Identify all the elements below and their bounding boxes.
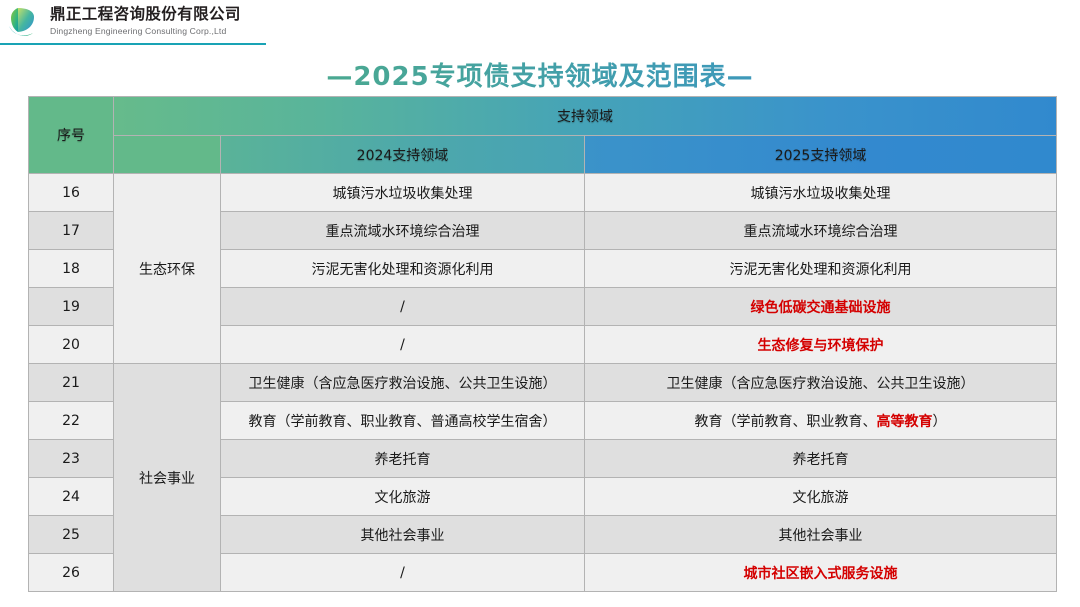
cell-2024-field: 卫生健康（含应急医疗救治设施、公共卫生设施） <box>221 364 584 401</box>
brand-text-block: 鼎正工程咨询股份有限公司 Dingzheng Engineering Consu… <box>50 7 241 35</box>
cell-2025-field: 污泥无害化处理和资源化利用 <box>585 250 1056 287</box>
cell-seq: 19 <box>29 288 113 325</box>
header-row-top: 序号 支持领域 <box>29 97 1056 135</box>
table-row: 21社会事业卫生健康（含应急医疗救治设施、公共卫生设施）卫生健康（含应急医疗救治… <box>29 364 1056 401</box>
cell-seq: 22 <box>29 402 113 439</box>
page-title: —2025专项债支持领域及范围表— <box>0 56 1080 93</box>
cell-2025-field: 生态修复与环境保护 <box>585 326 1056 363</box>
field-text-plain: 卫生健康（含应急医疗救治设施、公共卫生设施） <box>667 376 975 392</box>
cell-2025-field: 卫生健康（含应急医疗救治设施、公共卫生设施） <box>585 364 1056 401</box>
cell-seq: 24 <box>29 478 113 515</box>
field-text-plain: 养老托育 <box>793 452 849 468</box>
company-name-cn: 鼎正工程咨询股份有限公司 <box>50 7 241 23</box>
cell-seq: 26 <box>29 554 113 591</box>
table-body: 16生态环保城镇污水垃圾收集处理城镇污水垃圾收集处理17重点流域水环境综合治理重… <box>29 174 1056 591</box>
field-text-highlight: 绿色低碳交通基础设施 <box>751 300 891 316</box>
cell-2024-field: 教育（学前教育、职业教育、普通高校学生宿舍） <box>221 402 584 439</box>
cell-seq: 25 <box>29 516 113 553</box>
field-text-plain: 教育（学前教育、职业教育、 <box>695 414 877 430</box>
cell-2024-field: 城镇污水垃圾收集处理 <box>221 174 584 211</box>
cell-seq: 21 <box>29 364 113 401</box>
field-text-plain: 文化旅游 <box>793 490 849 506</box>
header-col-2025: 2025支持领域 <box>585 136 1056 173</box>
field-text-highlight: 生态修复与环境保护 <box>758 338 884 354</box>
cell-seq: 17 <box>29 212 113 249</box>
cell-seq: 23 <box>29 440 113 477</box>
cell-2024-field: / <box>221 288 584 325</box>
support-scope-table: 序号 支持领域 2024支持领域 2025支持领域 16生态环保城镇污水垃圾收集… <box>28 96 1057 592</box>
cell-2025-field: 城镇污水垃圾收集处理 <box>585 174 1056 211</box>
cell-seq: 20 <box>29 326 113 363</box>
cell-2025-field: 养老托育 <box>585 440 1056 477</box>
dingzheng-d-logo-icon <box>6 4 44 40</box>
cell-2025-field: 其他社会事业 <box>585 516 1056 553</box>
cell-seq: 16 <box>29 174 113 211</box>
table-header: 序号 支持领域 2024支持领域 2025支持领域 <box>29 97 1056 173</box>
cell-category: 社会事业 <box>114 364 220 591</box>
header-row-bottom: 2024支持领域 2025支持领域 <box>29 136 1056 173</box>
field-text-plain: 其他社会事业 <box>779 528 863 544</box>
field-text-plain-tail: ） <box>933 414 947 430</box>
cell-2024-field: 文化旅游 <box>221 478 584 515</box>
brand-header: 鼎正工程咨询股份有限公司 Dingzheng Engineering Consu… <box>0 0 266 45</box>
cell-2025-field: 城市社区嵌入式服务设施 <box>585 554 1056 591</box>
field-text-plain: 污泥无害化处理和资源化利用 <box>730 262 912 278</box>
cell-2025-field: 重点流域水环境综合治理 <box>585 212 1056 249</box>
field-text-plain: 重点流域水环境综合治理 <box>744 224 898 240</box>
cell-2024-field: 污泥无害化处理和资源化利用 <box>221 250 584 287</box>
cell-2025-field: 文化旅游 <box>585 478 1056 515</box>
table-row: 16生态环保城镇污水垃圾收集处理城镇污水垃圾收集处理 <box>29 174 1056 211</box>
cell-2024-field: 重点流域水环境综合治理 <box>221 212 584 249</box>
cell-seq: 18 <box>29 250 113 287</box>
cell-category: 生态环保 <box>114 174 220 363</box>
cell-2024-field: / <box>221 554 584 591</box>
header-col-2024: 2024支持领域 <box>221 136 584 173</box>
field-text-plain: 城镇污水垃圾收集处理 <box>751 186 891 202</box>
cell-2024-field: 养老托育 <box>221 440 584 477</box>
header-seq: 序号 <box>29 97 113 173</box>
header-group-support-area: 支持领域 <box>114 97 1056 135</box>
field-text-highlight: 城市社区嵌入式服务设施 <box>744 566 898 582</box>
cell-2025-field: 教育（学前教育、职业教育、高等教育） <box>585 402 1056 439</box>
field-text-highlight: 高等教育 <box>877 414 933 430</box>
company-name-en: Dingzheng Engineering Consulting Corp.,L… <box>50 27 241 36</box>
cell-2024-field: 其他社会事业 <box>221 516 584 553</box>
cell-2024-field: / <box>221 326 584 363</box>
header-category-blank <box>114 136 220 173</box>
cell-2025-field: 绿色低碳交通基础设施 <box>585 288 1056 325</box>
